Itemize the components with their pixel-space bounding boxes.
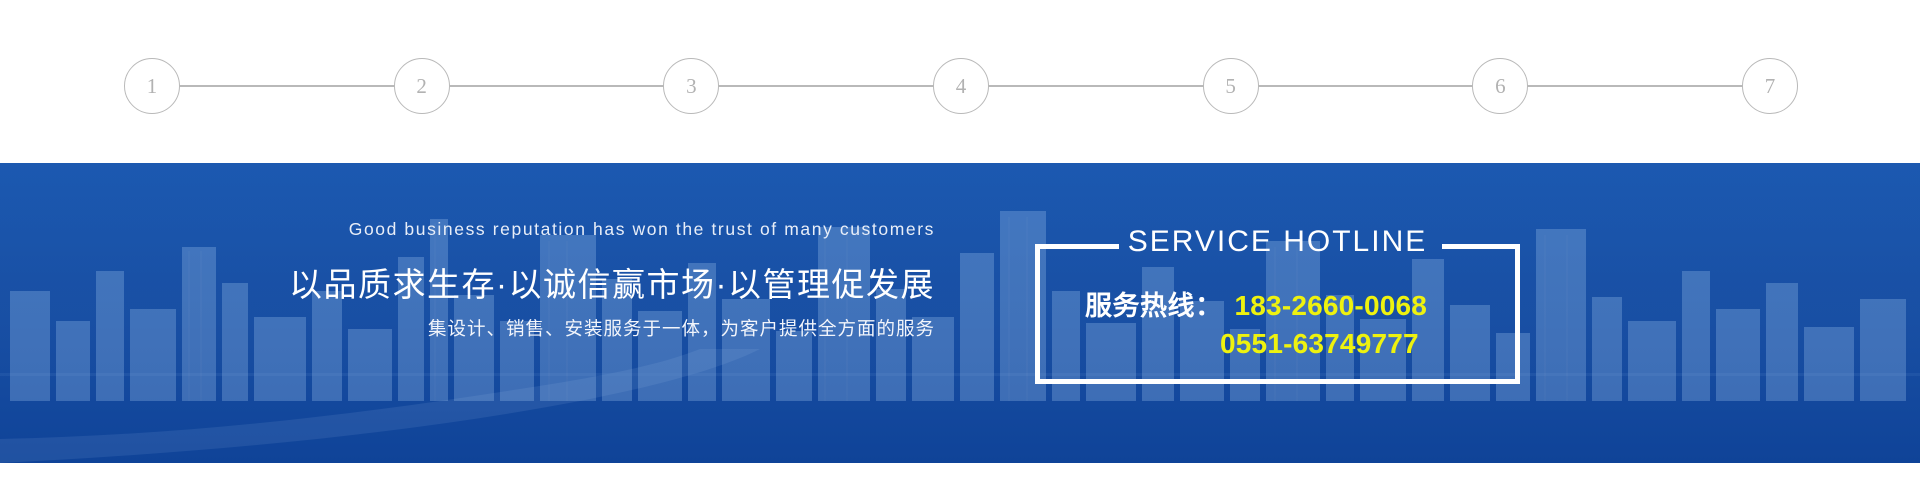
service-hotline-box: SERVICE HOTLINE 服务热线： 183-2660-0068 0551… (1035, 244, 1520, 384)
hotline-row-primary: 服务热线： 183-2660-0068 (1035, 284, 1520, 328)
slogan-chinese-sub: 集设计、销售、安装服务于一体，为客户提供全方面的服务 (0, 315, 935, 341)
stepper-step-label: 7 (1765, 76, 1776, 97)
promo-banner: Good business reputation has won the tru… (0, 163, 1920, 463)
stepper-step-5[interactable]: 5 (1203, 58, 1259, 114)
hotline-secondary-number[interactable]: 0551-63749777 (1220, 328, 1419, 360)
stepper-step-label: 4 (956, 76, 967, 97)
hotline-label: 服务热线： (1085, 284, 1223, 323)
stepper-step-2[interactable]: 2 (394, 58, 450, 114)
slogan-english: Good business reputation has won the tru… (0, 219, 935, 240)
hotline-border-bottom (1035, 379, 1520, 384)
hotline-title: SERVICE HOTLINE (1035, 227, 1520, 257)
hotline-numbers: 服务热线： 183-2660-0068 0551-63749777 (1035, 284, 1520, 372)
stepper-step-7[interactable]: 7 (1742, 58, 1798, 114)
stepper-bar: 1 2 3 4 5 6 7 (0, 0, 1920, 163)
stepper-step-label: 6 (1495, 76, 1506, 97)
hotline-row-secondary: 0551-63749777 (1035, 328, 1520, 372)
slogan-block: Good business reputation has won the tru… (0, 163, 935, 463)
stepper-step-6[interactable]: 6 (1472, 58, 1528, 114)
stepper-step-label: 1 (147, 76, 158, 97)
stepper-step-1[interactable]: 1 (124, 58, 180, 114)
stepper-step-4[interactable]: 4 (933, 58, 989, 114)
stepper-step-label: 5 (1225, 76, 1236, 97)
slogan-chinese-main: 以品质求生存·以诚信赢市场·以管理促发展 (0, 258, 935, 306)
stepper-step-label: 2 (416, 76, 427, 97)
stepper-step-label: 3 (686, 76, 697, 97)
stepper-track: 1 2 3 4 5 6 7 (152, 85, 1770, 87)
stepper-step-3[interactable]: 3 (663, 58, 719, 114)
hotline-primary-number[interactable]: 183-2660-0068 (1235, 290, 1428, 322)
